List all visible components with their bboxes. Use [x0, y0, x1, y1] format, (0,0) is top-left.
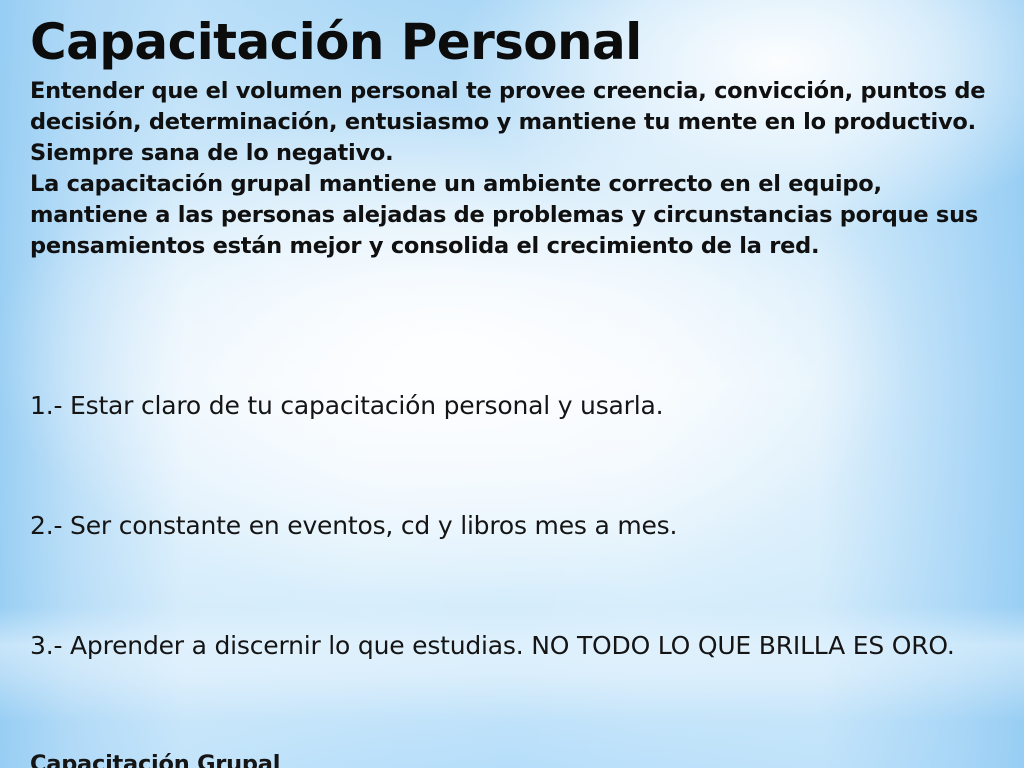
intro-paragraph-1: Entender que el volumen personal te prov… [30, 76, 996, 169]
list-section-heading: Capacitación Grupal [30, 746, 996, 768]
intro-block: Entender que el volumen personal te prov… [30, 70, 996, 262]
intro-paragraph-2: La capacitación grupal mantiene un ambie… [30, 169, 996, 262]
slide-canvas: Capacitación Personal Entender que el vo… [0, 0, 1024, 768]
list-item: 2.- Ser constante en eventos, cd y libro… [30, 506, 996, 546]
slide-title: Capacitación Personal [30, 0, 996, 70]
list-item: 3.- Aprender a discernir lo que estudias… [30, 626, 996, 666]
slide-content: Capacitación Personal Entender que el vo… [30, 0, 996, 768]
list-item: 1.- Estar claro de tu capacitación perso… [30, 386, 996, 426]
numbered-list: 1.- Estar claro de tu capacitación perso… [30, 262, 996, 768]
